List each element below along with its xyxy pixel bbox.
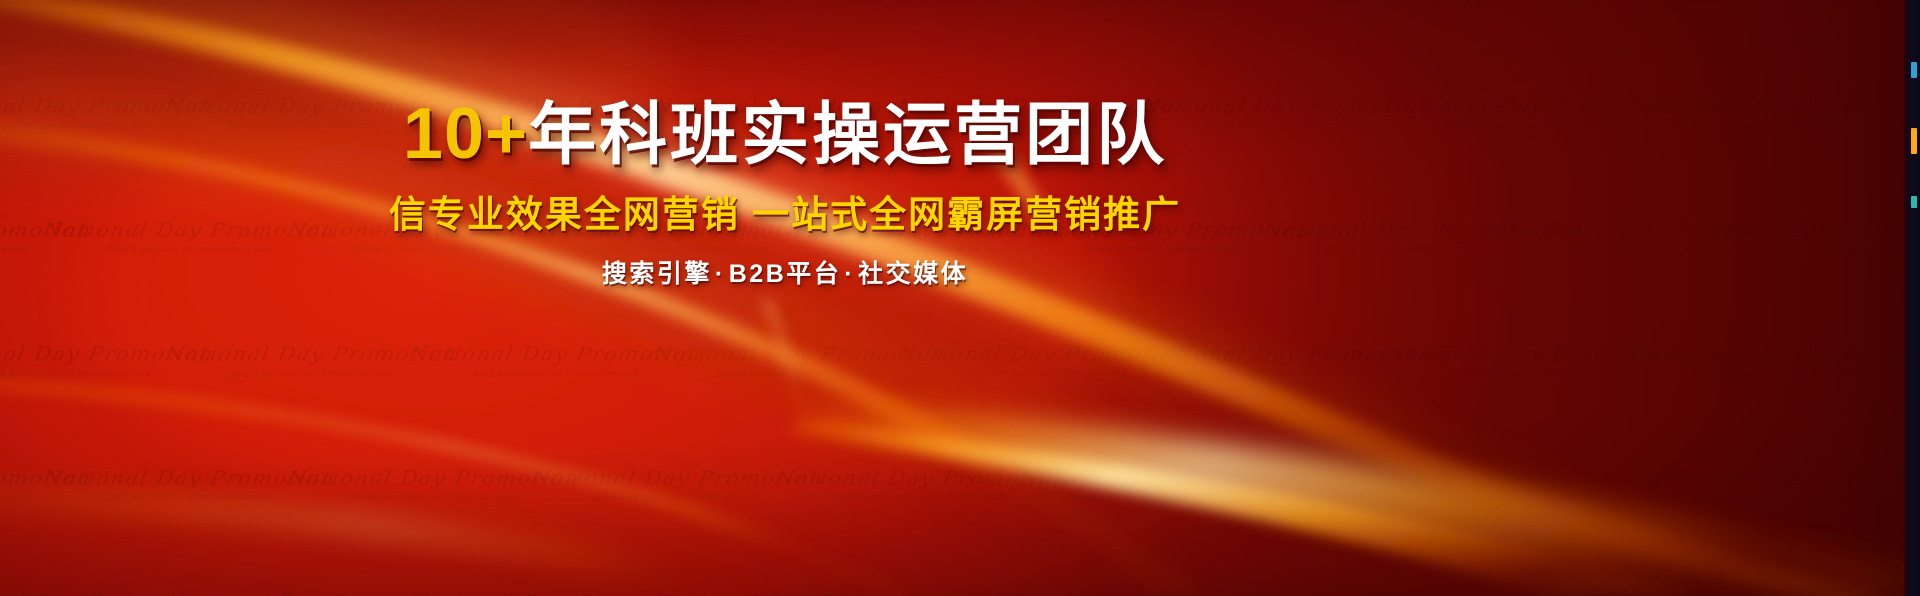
promo-banner: National Day Promotion国庆促销 NATIONAL DAY … bbox=[0, 0, 1920, 596]
watermark-sub-text: 国庆促销 NATIONAL DAY PROMOTION SALE bbox=[1752, 493, 1920, 503]
watermark-tile: National Day Promotion国庆促销 NATIONAL DAY … bbox=[1752, 466, 1920, 503]
edge-chip-blue bbox=[1911, 62, 1917, 78]
watermark-tile: National Day Promotion国庆促销 NATIONAL DAY … bbox=[1752, 218, 1920, 255]
watermark-grid: National Day Promotion国庆促销 NATIONAL DAY … bbox=[0, 0, 1920, 596]
right-edge-strip bbox=[1904, 0, 1920, 596]
watermark-script-text: National Day Promotion bbox=[1750, 467, 1920, 489]
watermark-script-text: National Day Promotion bbox=[1750, 219, 1920, 241]
watermark-sub-text: 国庆促销 NATIONAL DAY PROMOTION SALE bbox=[1752, 0, 1920, 7]
watermark-sub-text: 国庆促销 NATIONAL DAY PROMOTION SALE bbox=[1752, 245, 1920, 255]
edge-chip-amber bbox=[1911, 128, 1917, 154]
watermark-tile: National Day Promotion国庆促销 NATIONAL DAY … bbox=[1752, 0, 1920, 7]
edge-chip-teal bbox=[1911, 196, 1917, 208]
